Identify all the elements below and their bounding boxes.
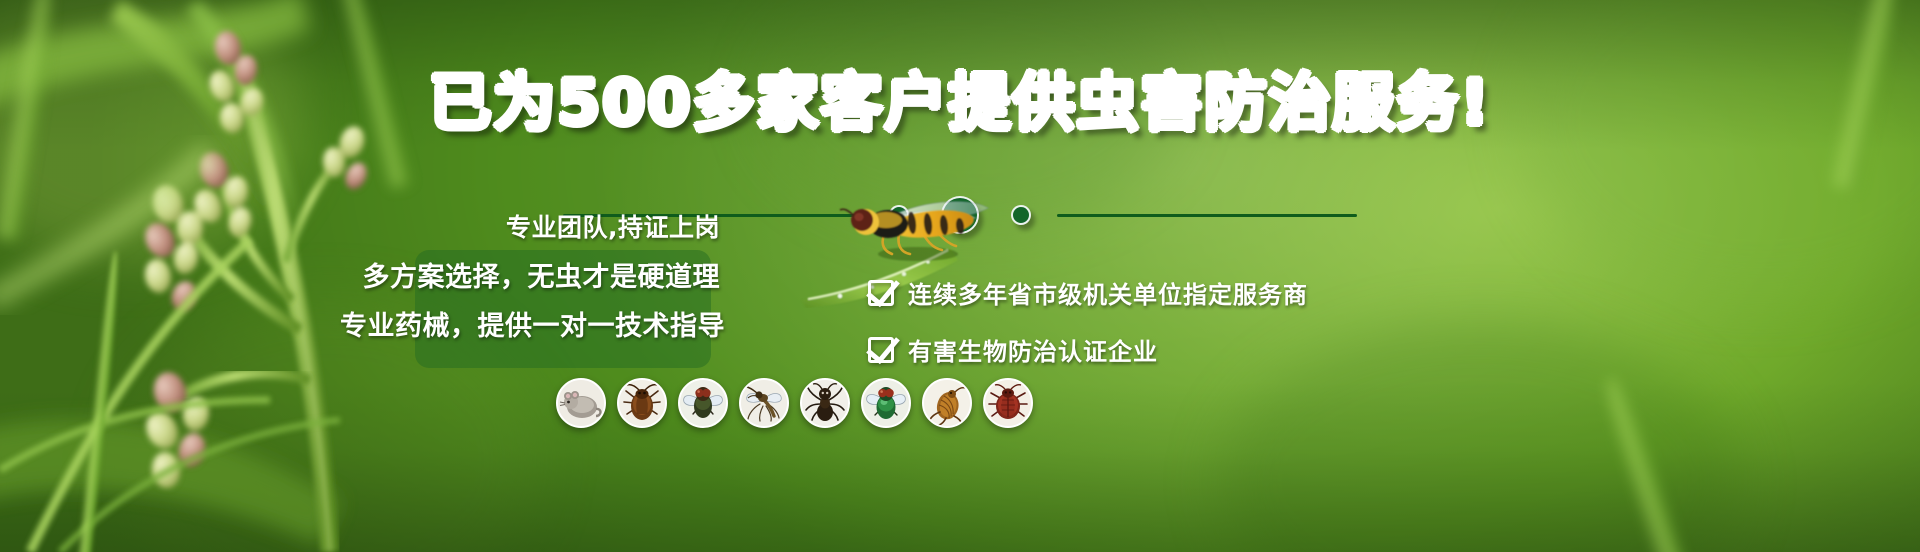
slogan-line-3: 专业药械，提供一对一技术指导: [340, 313, 720, 340]
slogan-line-2: 多方案选择，无虫才是硬道理: [340, 264, 720, 291]
checklist-item-label: 有害生物防治认证企业: [908, 332, 1158, 367]
slogan-line-1: 专业团队,持证上岗: [340, 215, 720, 240]
banner-headline: 已为500多家客户提供虫害防治服务!: [0, 72, 1920, 134]
feature-checklist: 连续多年省市级机关单位指定服务商 有害生物防治认证企业: [868, 275, 1308, 367]
checkbox-checked-icon: [868, 337, 894, 363]
divider-line-right: [1057, 214, 1357, 217]
rat-icon[interactable]: [556, 378, 606, 428]
checkbox-checked-icon: [868, 280, 894, 306]
pest-control-hero-banner: 已为500多家客户提供虫害防治服务! 专业团队,持证上岗 多方案选择，无虫才是硬…: [0, 0, 1920, 552]
pest-icon-row: [556, 378, 1033, 428]
flea-icon[interactable]: [922, 378, 972, 428]
cockroach-icon[interactable]: [617, 378, 667, 428]
checklist-item-label: 连续多年省市级机关单位指定服务商: [908, 275, 1308, 310]
blowfly-icon[interactable]: [861, 378, 911, 428]
slogan-text-group: 专业团队,持证上岗 多方案选择，无虫才是硬道理 专业药械，提供一对一技术指导: [340, 215, 720, 340]
fly-icon[interactable]: [678, 378, 728, 428]
banner-headline-text: 已为500多家客户提供虫害防治服务!: [429, 66, 1491, 139]
bedbug-icon[interactable]: [983, 378, 1033, 428]
mosquito-icon[interactable]: [739, 378, 789, 428]
ant-icon[interactable]: [800, 378, 850, 428]
checklist-item: 有害生物防治认证企业: [868, 332, 1308, 367]
checklist-item: 连续多年省市级机关单位指定服务商: [868, 275, 1308, 310]
